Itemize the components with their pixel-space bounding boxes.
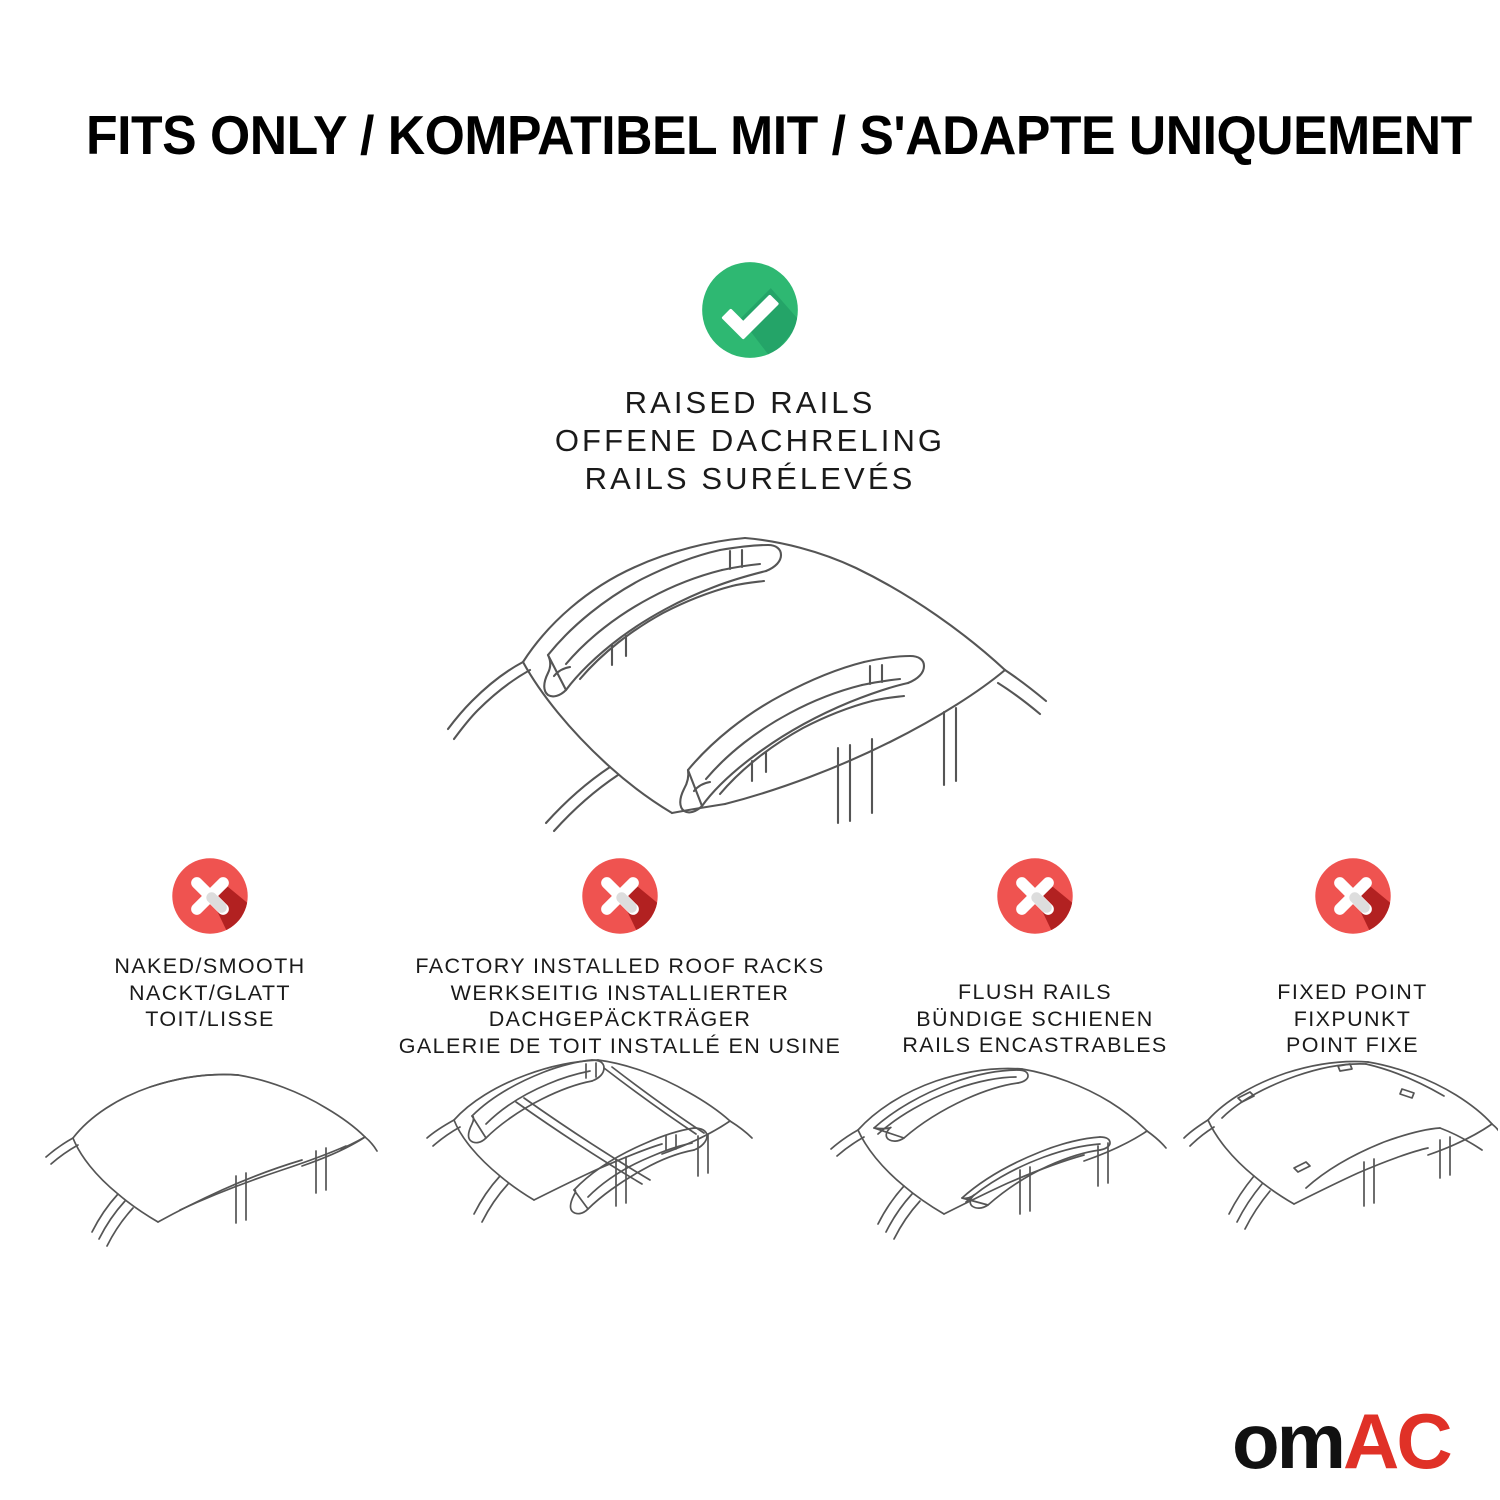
excluded-label-de-2: DACHGEPÄCKTRÄGER (385, 1006, 855, 1033)
excluded-labels: FLUSH RAILS BÜNDIGE SCHIENEN RAILS ENCAS… (860, 979, 1210, 1059)
check-circle-icon (698, 258, 802, 362)
excluded-label-en: FIXED POINT (1215, 979, 1490, 1006)
excluded-labels: FACTORY INSTALLED ROOF RACKS WERKSEITIG … (385, 953, 855, 1059)
x-circle-icon (169, 855, 251, 937)
roof-illustrations-row (0, 1058, 1500, 1288)
approved-label-fr: RAILS SURÉLEVÉS (0, 460, 1500, 498)
excluded-column-factory-racks: FACTORY INSTALLED ROOF RACKS WERKSEITIG … (385, 855, 855, 1059)
excluded-label-de: NACKT/GLATT (55, 980, 365, 1007)
excluded-labels: FIXED POINT FIXPUNKT POINT FIXE (1215, 979, 1490, 1059)
excluded-label-de: FIXPUNKT (1215, 1006, 1490, 1033)
excluded-labels: NAKED/SMOOTH NACKT/GLATT TOIT/LISSE (55, 953, 365, 1033)
x-circle-icon (994, 855, 1076, 937)
excluded-column-naked-smooth: NAKED/SMOOTH NACKT/GLATT TOIT/LISSE (55, 855, 365, 1033)
approved-label-en: RAISED RAILS (0, 384, 1500, 422)
x-circle-icon (579, 855, 661, 937)
car-roof-flush-rails-illustration (818, 1058, 1178, 1283)
page-title: FITS ONLY / KOMPATIBEL MIT / S'ADAPTE UN… (86, 104, 1472, 166)
approved-roof-type-block: RAISED RAILS OFFENE DACHRELING RAILS SUR… (0, 258, 1500, 498)
excluded-label-en: FLUSH RAILS (860, 979, 1210, 1006)
excluded-column-fixed-point: FIXED POINT FIXPUNKT POINT FIXE (1215, 855, 1490, 1059)
excluded-label-fr: TOIT/LISSE (55, 1006, 365, 1033)
excluded-column-flush-rails: FLUSH RAILS BÜNDIGE SCHIENEN RAILS ENCAS… (860, 855, 1210, 1059)
logo-text-dark: om (1232, 1404, 1343, 1478)
omac-logo: omAC (1232, 1404, 1450, 1478)
excluded-label-de-1: WERKSEITIG INSTALLIERTER (385, 980, 855, 1007)
car-roof-fixed-point-illustration (1178, 1058, 1498, 1283)
excluded-label-fr: GALERIE DE TOIT INSTALLÉ EN USINE (385, 1033, 855, 1060)
approved-labels: RAISED RAILS OFFENE DACHRELING RAILS SUR… (0, 384, 1500, 498)
approved-label-de: OFFENE DACHRELING (0, 422, 1500, 460)
excluded-label-de: BÜNDIGE SCHIENEN (860, 1006, 1210, 1033)
car-roof-naked-smooth-illustration (28, 1058, 378, 1283)
car-roof-raised-rails-illustration (420, 505, 1100, 835)
excluded-label-fr: RAILS ENCASTRABLES (860, 1032, 1210, 1059)
car-roof-factory-racks-illustration (398, 1058, 758, 1283)
excluded-label-en: FACTORY INSTALLED ROOF RACKS (385, 953, 855, 980)
logo-text-red: AC (1343, 1404, 1450, 1478)
excluded-label-en: NAKED/SMOOTH (55, 953, 365, 980)
excluded-label-fr: POINT FIXE (1215, 1032, 1490, 1059)
x-circle-icon (1312, 855, 1394, 937)
